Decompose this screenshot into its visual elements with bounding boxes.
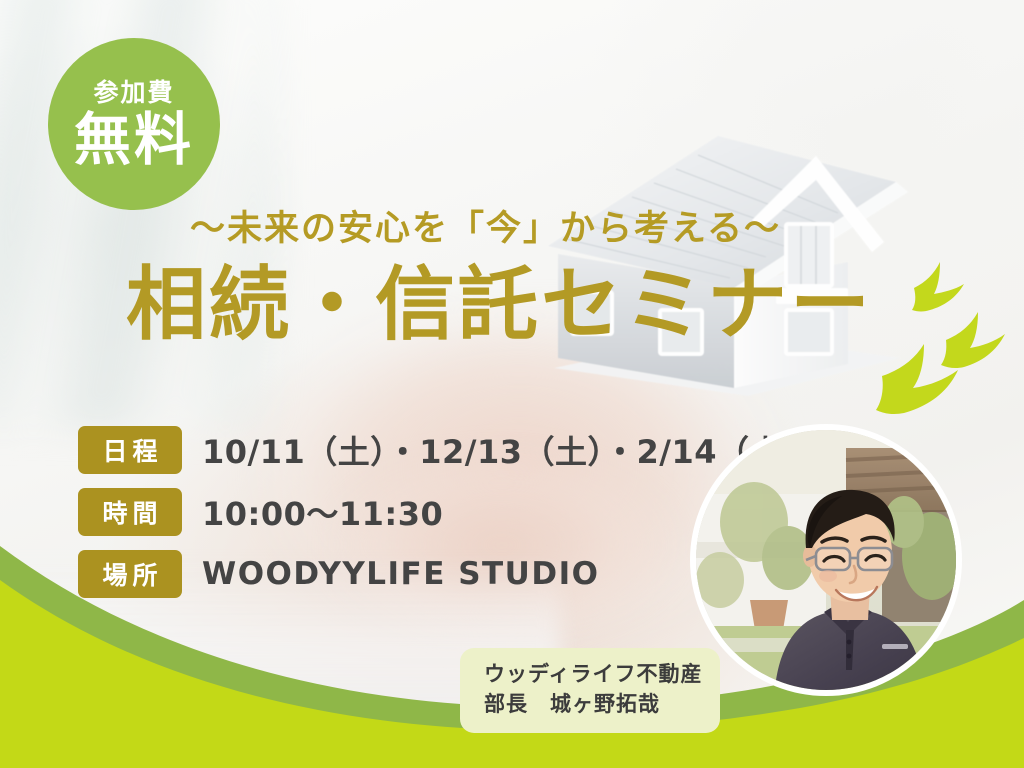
- speaker-company: ウッディライフ不動産: [484, 662, 703, 686]
- speaker-portrait-photo: [690, 424, 962, 696]
- seminar-flyer: 参加費 無料 〜未来の安心を「今」から考える〜 相続・信託セミナー 日程 10/…: [0, 0, 1024, 768]
- flying-birds-icon: [868, 248, 1024, 418]
- info-row-time: 時間 10:00〜11:30: [78, 488, 738, 536]
- info-value-time: 10:00〜11:30: [202, 489, 443, 535]
- free-admission-badge: 参加費 無料: [48, 38, 220, 210]
- seminar-subtitle: 〜未来の安心を「今」から考える〜: [190, 200, 781, 251]
- info-row-venue: 場所 WOODYYLIFE STUDIO: [78, 550, 738, 598]
- seminar-info-list: 日程 10/11（土）・12/13（土）・2/14（土） 時間 10:00〜11…: [78, 426, 738, 612]
- seminar-title: 相続・信託セミナー: [126, 265, 873, 345]
- badge-sub-label: 参加費: [93, 80, 174, 105]
- speaker-title-name: 部長 城ヶ野拓哉: [484, 690, 704, 720]
- speaker-caption: ウッディライフ不動産 部長 城ヶ野拓哉: [460, 648, 720, 733]
- info-value-venue: WOODYYLIFE STUDIO: [202, 556, 599, 592]
- info-row-schedule: 日程 10/11（土）・12/13（土）・2/14（土）: [78, 426, 738, 474]
- info-label-time: 時間: [78, 488, 182, 536]
- badge-main-label: 無料: [74, 112, 194, 169]
- portrait-illustration: [696, 430, 962, 696]
- info-label-venue: 場所: [78, 550, 182, 598]
- info-label-schedule: 日程: [78, 426, 182, 474]
- info-value-schedule: 10/11（土）・12/13（土）・2/14（土）: [202, 427, 815, 473]
